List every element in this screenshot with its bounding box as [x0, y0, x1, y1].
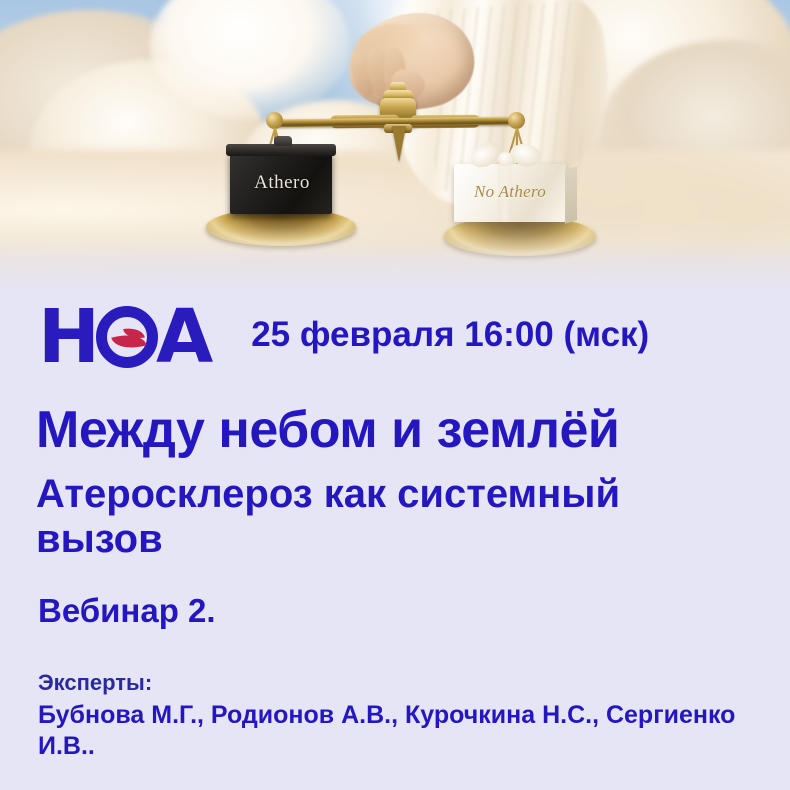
athero-box-label: Athero: [236, 172, 328, 194]
hero-illustration: Athero No Athero: [0, 0, 790, 292]
scale-end-knob-right: [508, 112, 525, 129]
athero-box-knob: [274, 136, 292, 146]
logo-and-date-row: Н А 25 февраля 16:00 (мск): [38, 300, 649, 374]
no-athero-box-label: No Athero: [458, 182, 562, 202]
experts-names: Бубнова М.Г., Родионов А.В., Курочкина Н…: [38, 700, 748, 763]
gift-bow: [470, 144, 542, 170]
page-subtitle: Атеросклероз как системный вызов: [36, 472, 748, 562]
logo-letter-a: А: [156, 300, 211, 374]
logo-letter-o-ring: [96, 306, 158, 368]
leaf-icon: [111, 329, 146, 354]
cloud-bank: [0, 150, 790, 292]
event-date: 25 февраля 16:00 (мск): [251, 315, 649, 359]
noa-logo: Н А: [38, 300, 211, 374]
experts-label: Эксперты:: [38, 670, 152, 696]
session-number: Вебинар 2.: [38, 592, 216, 630]
no-athero-box-side: [565, 166, 577, 223]
scale-end-knob-left: [266, 112, 283, 129]
page-title: Между небом и землёй: [36, 400, 619, 460]
scale-pan-right: [444, 216, 596, 256]
logo-letter-n: Н: [38, 300, 98, 374]
gift-bow-loop-left: [467, 139, 503, 171]
gift-bow-knot: [498, 152, 514, 166]
scale-pivot-spike: [392, 126, 406, 162]
webinar-announcement-poster: Athero No Athero Н А 25 февраля 16:00 (м…: [0, 0, 790, 790]
